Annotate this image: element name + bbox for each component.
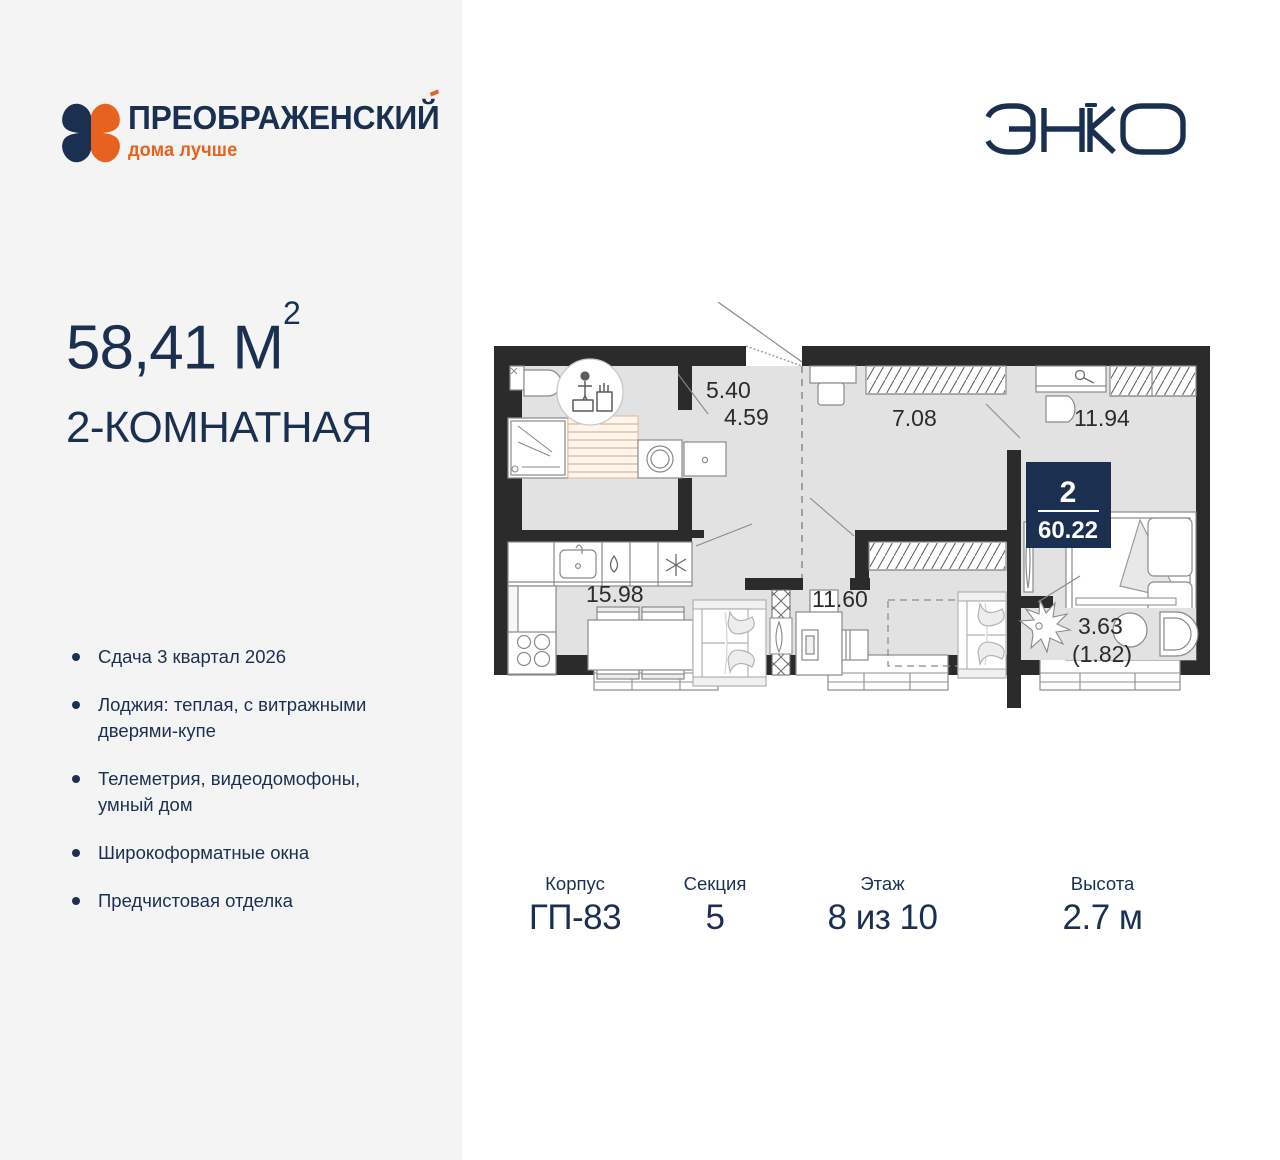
room-area-label: 4.59 (724, 404, 769, 430)
room-area-label: 5.40 (706, 377, 751, 403)
room-area-label: 3.63 (1078, 613, 1123, 639)
feature-text: Сдача 3 квартал 2026 (98, 646, 286, 667)
wardrobe-lower (869, 542, 1006, 570)
feature-text: Лоджия: теплая, с витражными дверями-куп… (98, 694, 366, 741)
feature-text: Предчистовая отделка (98, 890, 293, 911)
info-panel: ПРЕОБРАЖЕНСКИЙ дома лучше 58,41 М2 2-КОМ… (0, 0, 462, 1160)
room-area-label: 15.98 (586, 581, 644, 607)
brand-tagline: дома лучше (128, 140, 443, 162)
spec-value: 5 (655, 896, 775, 940)
apartment-area: 58,41 М2 (66, 305, 300, 380)
list-item: Широкоформатные окна (66, 840, 396, 866)
room-area-label: 11.60 (812, 586, 868, 612)
four-petal-flower-icon (62, 102, 120, 164)
room-area-label: 60.22 (1038, 517, 1098, 544)
list-item: Предчистовая отделка (66, 888, 396, 914)
list-item: Телеметрия, видеодомофоны, умный дом (66, 766, 396, 818)
spec-label: Корпус (480, 872, 670, 896)
apartment-area-number: 58,41 М (66, 314, 283, 383)
list-item: Сдача 3 квартал 2026 (66, 644, 396, 670)
spec-label: Секция (655, 872, 775, 896)
spec-label: Высота (995, 872, 1210, 896)
room-area-label: 11.94 (1074, 405, 1130, 431)
brand-name: ПРЕОБРАЖЕНСКИЙ (128, 100, 440, 138)
features-list: Сдача 3 квартал 2026 Лоджия: теплая, с в… (66, 644, 396, 914)
room-area-label: 7.08 (892, 405, 937, 431)
plan-panel: 5.40 (462, 0, 1280, 1160)
spec-floor: Этаж 8 из 10 (780, 872, 985, 940)
storage-niche (770, 590, 792, 675)
bullet-icon (72, 653, 80, 661)
feature-text: Телеметрия, видеодомофоны, умный дом (98, 768, 360, 815)
spec-label: Этаж (780, 872, 985, 896)
brand-logo[interactable]: ПРЕОБРАЖЕНСКИЙ дома лучше (62, 100, 422, 178)
area-unit-superscript: 2 (283, 295, 300, 331)
spec-row: Корпус ГП-83 Секция 5 Этаж 8 из 10 Высот… (480, 872, 1210, 962)
bullet-icon (72, 701, 80, 709)
wardrobe-upper (866, 366, 1006, 394)
list-item: Лоджия: теплая, с витражными дверями-куп… (66, 692, 396, 744)
spec-value: 2.7 м (995, 896, 1210, 940)
spec-value: 8 из 10 (780, 896, 985, 940)
feature-text: Широкоформатные окна (98, 842, 309, 863)
spec-korpus: Корпус ГП-83 (480, 872, 670, 940)
enko-wordmark-icon[interactable] (982, 103, 1204, 155)
bullet-icon (72, 849, 80, 857)
room-area-label: (1.82) (1072, 641, 1132, 667)
apartment-type: 2-КОМНАТНАЯ (66, 402, 372, 454)
spec-section: Секция 5 (655, 872, 775, 940)
wardrobe-bedroom2 (1110, 366, 1196, 396)
floor-plan[interactable]: 5.40 (480, 300, 1225, 715)
spec-value: ГП-83 (480, 896, 670, 940)
spec-height: Высота 2.7 м (995, 872, 1210, 940)
status-badge: 2 60.22 (1026, 462, 1111, 548)
bullet-icon (72, 775, 80, 783)
bullet-icon (72, 897, 80, 905)
brand-wordmark: ПРЕОБРАЖЕНСКИЙ дома лучше (128, 100, 456, 162)
sauna-person-icon (557, 359, 623, 425)
room-area-label: 2 (1060, 476, 1077, 509)
